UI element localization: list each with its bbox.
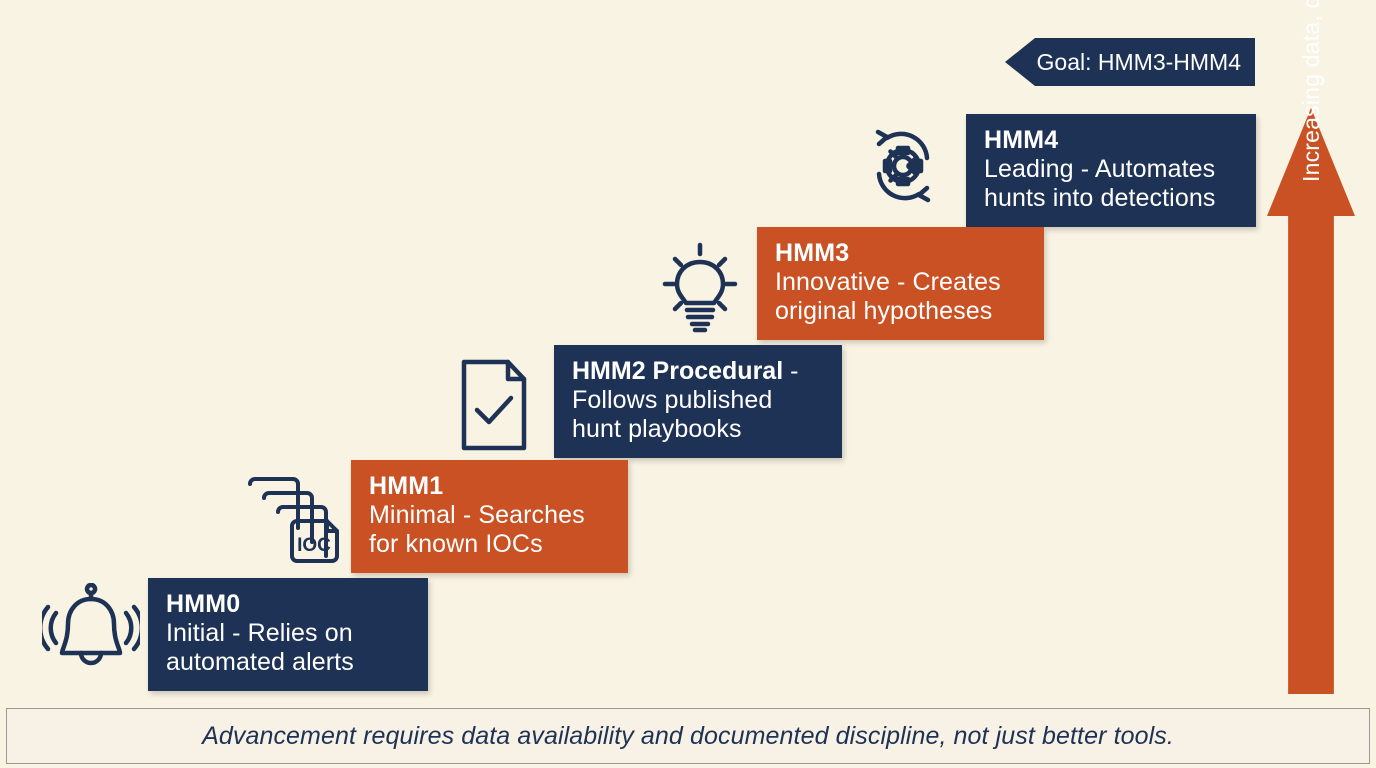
- increasing-maturity-arrow: [1267, 108, 1355, 694]
- level-bar-hmm2-line2: hunt playbooks: [572, 415, 842, 444]
- level-bar-hmm0: HMM0 Initial - Relies on automated alert…: [148, 578, 428, 691]
- level-bar-hmm0-level: HMM0: [166, 590, 428, 619]
- level-bar-hmm3-line1: Innovative - Creates: [775, 268, 1044, 297]
- level-bar-hmm1: HMM1 Minimal - Searches for known IOCs: [351, 460, 628, 573]
- footer-panel: Advancement requires data availability a…: [6, 708, 1370, 764]
- level-bar-hmm2-line1: Follows published: [572, 386, 842, 415]
- level-bar-hmm2-level: HMM2 Procedural: [572, 357, 783, 385]
- level-bar-hmm1-line1: Minimal - Searches: [369, 501, 628, 530]
- level-bar-hmm3-line2: original hypotheses: [775, 297, 1044, 326]
- goal-banner-label: Goal: HMM3-HMM4: [1037, 49, 1241, 76]
- level-bar-hmm4-level: HMM4: [984, 126, 1256, 155]
- ioc-cards-icon: IOC: [246, 474, 342, 566]
- level-bar-hmm1-level: HMM1: [369, 472, 628, 501]
- level-bar-hmm3: HMM3 Innovative - Creates original hypot…: [757, 227, 1044, 340]
- level-bar-hmm2-headline: HMM2 Procedural -: [572, 357, 842, 386]
- lightbulb-icon: [652, 240, 748, 336]
- bell-icon: [42, 583, 140, 677]
- level-bar-hmm4-line2: hunts into detections: [984, 184, 1256, 213]
- level-bar-hmm2-line0: -: [783, 357, 798, 385]
- level-bar-hmm1-line2: for known IOCs: [369, 530, 628, 559]
- level-bar-hmm0-line1: Initial - Relies on: [166, 619, 428, 648]
- level-bar-hmm3-level: HMM3: [775, 239, 1044, 268]
- ioc-cards-icon-label: IOC: [297, 535, 331, 556]
- hunting-maturity-model-diagram: Goal: HMM3-HMM4 Increasing data, discipl…: [0, 0, 1376, 768]
- level-bar-hmm0-line2: automated alerts: [166, 648, 428, 677]
- level-bar-hmm4: HMM4 Leading - Automates hunts into dete…: [966, 114, 1256, 227]
- footer-text: Advancement requires data availability a…: [202, 722, 1174, 751]
- goal-banner: Goal: HMM3-HMM4: [1005, 38, 1255, 86]
- level-bar-hmm4-line1: Leading - Automates: [984, 155, 1256, 184]
- level-bar-hmm2: HMM2 Procedural - Follows published hunt…: [554, 345, 842, 458]
- document-check-icon: [458, 358, 538, 452]
- gear-cycle-icon: [857, 120, 949, 212]
